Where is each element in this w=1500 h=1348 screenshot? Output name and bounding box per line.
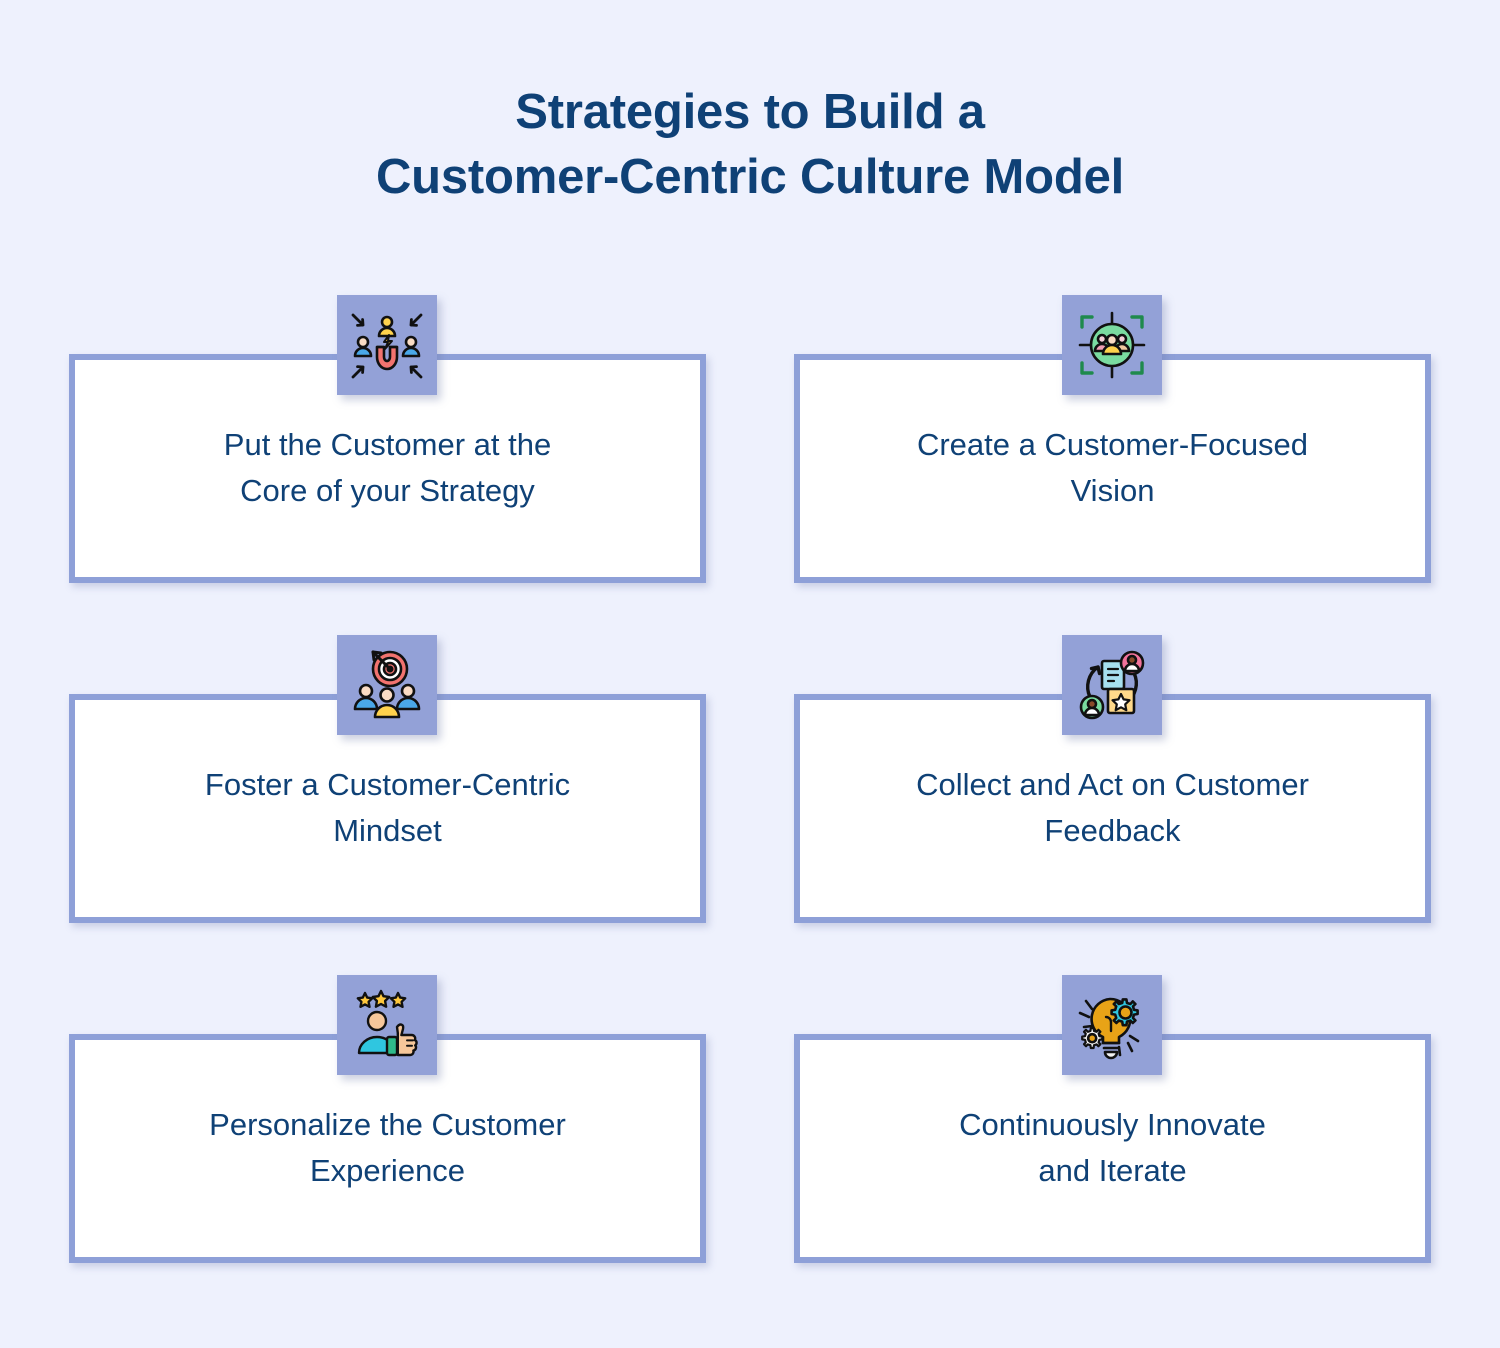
strategy-card-6-text: Continuously Innovate and Iterate [822, 1102, 1403, 1194]
infographic-page: Strategies to Build a Customer-Centric C… [0, 0, 1500, 1348]
strategy-card-1-line-2: Core of your Strategy [240, 473, 535, 508]
strategy-cell-3: Foster a Customer-Centric Mindset [69, 635, 706, 923]
strategy-card-5-line-2: Experience [310, 1153, 465, 1188]
strategy-card-3-line-2: Mindset [333, 813, 442, 848]
card-row-3: Personalize the Customer Experience [69, 975, 1431, 1263]
strategy-card-1-line-1: Put the Customer at the [224, 427, 551, 462]
strategy-card-6-line-2: and Iterate [1038, 1153, 1186, 1188]
strategy-card-grid: Put the Customer at the Core of your Str… [69, 295, 1431, 1263]
card-row-2: Foster a Customer-Centric Mindset [69, 635, 1431, 923]
strategy-cell-6: Continuously Innovate and Iterate [794, 975, 1431, 1263]
page-title-line-1: Strategies to Build a [0, 80, 1500, 145]
feedback-loop-icon [1062, 635, 1162, 735]
magnet-customers-icon [337, 295, 437, 395]
dartboard-team-icon [337, 635, 437, 735]
strategy-card-3-text: Foster a Customer-Centric Mindset [97, 762, 678, 854]
lightbulb-gears-icon [1062, 975, 1162, 1075]
strategy-card-4-line-2: Feedback [1044, 813, 1180, 848]
strategy-card-4-line-1: Collect and Act on Customer [916, 767, 1309, 802]
strategy-cell-4: Collect and Act on Customer Feedback [794, 635, 1431, 923]
target-audience-icon [1062, 295, 1162, 395]
rating-thumbs-up-icon [337, 975, 437, 1075]
strategy-card-5-text: Personalize the Customer Experience [97, 1102, 678, 1194]
page-title: Strategies to Build a Customer-Centric C… [0, 80, 1500, 209]
strategy-card-4-text: Collect and Act on Customer Feedback [822, 762, 1403, 854]
strategy-cell-2: Create a Customer-Focused Vision [794, 295, 1431, 583]
strategy-card-3-line-1: Foster a Customer-Centric [205, 767, 570, 802]
strategy-card-5-line-1: Personalize the Customer [209, 1107, 566, 1142]
strategy-card-6-line-1: Continuously Innovate [959, 1107, 1266, 1142]
card-row-1: Put the Customer at the Core of your Str… [69, 295, 1431, 583]
strategy-card-1-text: Put the Customer at the Core of your Str… [97, 422, 678, 514]
strategy-cell-5: Personalize the Customer Experience [69, 975, 706, 1263]
strategy-card-2-line-1: Create a Customer-Focused [917, 427, 1308, 462]
page-title-line-2: Customer-Centric Culture Model [0, 145, 1500, 210]
strategy-card-2-text: Create a Customer-Focused Vision [822, 422, 1403, 514]
strategy-cell-1: Put the Customer at the Core of your Str… [69, 295, 706, 583]
strategy-card-2-line-2: Vision [1071, 473, 1155, 508]
